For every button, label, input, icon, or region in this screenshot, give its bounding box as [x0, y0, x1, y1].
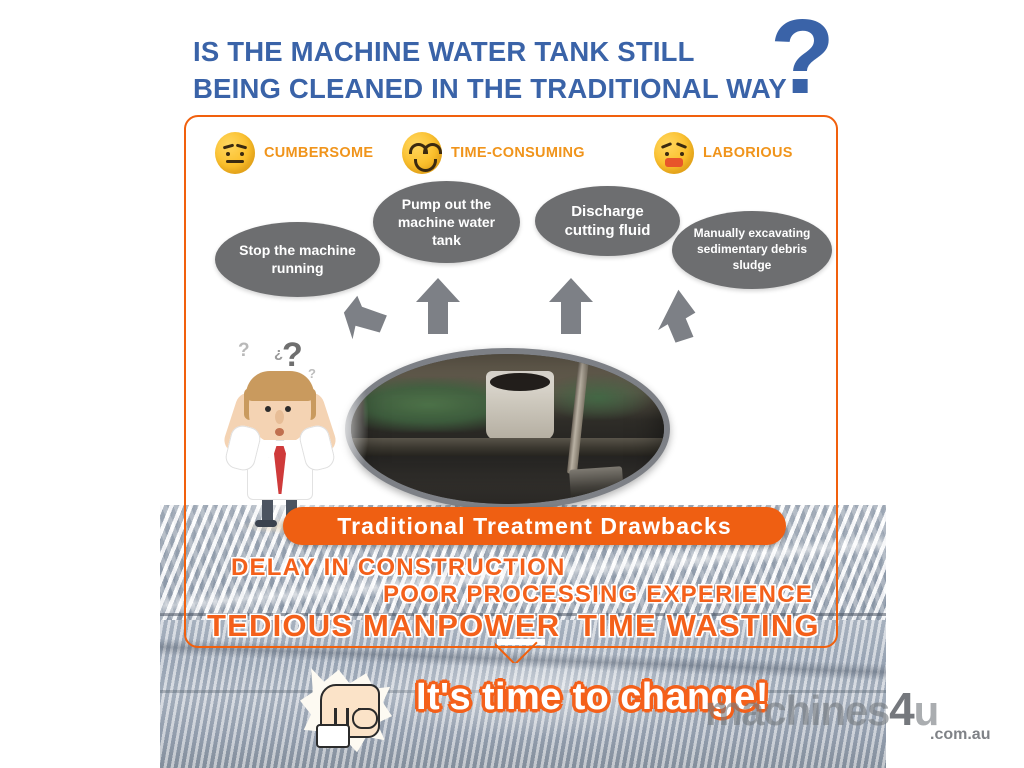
machine-tank-photo — [345, 348, 670, 510]
character-shoe — [255, 520, 277, 527]
headline-line-2: BEING CLEANED IN THE TRADITIONAL WAY — [193, 71, 813, 108]
emoji-item-cumbersome: CUMBERSOME — [215, 132, 373, 174]
character-eye — [285, 406, 291, 412]
watermark-domain: .com.au — [930, 726, 990, 744]
worried-businessman-illustration: ? ? ? ? — [222, 340, 362, 530]
drawback-time-wasting: TIME WASTING — [578, 608, 820, 644]
infographic-canvas: IS THE MACHINE WATER TANK STILL BEING CL… — [0, 0, 1024, 768]
character-mouth — [275, 428, 284, 436]
fist-thumb — [352, 708, 378, 729]
step-bubble-manual-excavation: Manually excavating sedimentary debris s… — [672, 211, 832, 289]
step-bubble-text: Stop the machine running — [215, 242, 380, 277]
step-bubble-pump-out: Pump out the machine water tank — [373, 181, 520, 263]
weary-face-icon — [402, 132, 442, 174]
page-title: IS THE MACHINE WATER TANK STILL BEING CL… — [193, 34, 813, 107]
watermark-name: machines — [705, 687, 889, 734]
drawbacks-banner-title: Traditional Treatment Drawbacks — [337, 513, 732, 540]
emoji-label-laborious: LABORIOUS — [703, 145, 793, 161]
drawback-poor-processing-experience: POOR PROCESSING EXPERIENCE — [383, 581, 813, 609]
photo-vignette — [351, 354, 664, 504]
drawback-tedious-manpower: TEDIOUS MANPOWER — [207, 608, 560, 644]
tank-photo-image — [351, 354, 664, 504]
step-bubble-text: Pump out the machine water tank — [373, 195, 520, 250]
step-bubble-text: Discharge cutting fluid — [535, 202, 680, 240]
thought-question-mark-large: ? — [282, 336, 303, 375]
thought-question-mark-small: ? — [238, 340, 250, 362]
process-arrow-mid-right — [545, 276, 597, 338]
frame-bottom-notch — [495, 641, 547, 663]
pointing-fist-icon — [300, 668, 392, 754]
emoji-label-cumbersome: CUMBERSOME — [264, 145, 373, 161]
complaint-emoji-row: CUMBERSOME TIME-CONSUMING LABORIOUS — [215, 132, 825, 176]
drawback-delay-in-construction: DELAY IN CONSTRUCTION — [231, 554, 566, 582]
angry-face-icon — [654, 132, 694, 174]
thought-question-mark-tiny: ? — [308, 366, 316, 381]
step-bubble-discharge: Discharge cutting fluid — [535, 186, 680, 256]
step-bubble-text: Manually excavating sedimentary debris s… — [672, 226, 832, 273]
drawbacks-banner: Traditional Treatment Drawbacks — [283, 507, 786, 545]
emoji-item-laborious: LABORIOUS — [654, 132, 793, 174]
character-nose — [275, 410, 284, 424]
thought-question-mark-inverted: ? — [274, 346, 283, 363]
emoji-label-time-consuming: TIME-CONSUMING — [451, 145, 585, 161]
character-eye — [265, 406, 271, 412]
headline-line-1: IS THE MACHINE WATER TANK STILL — [193, 34, 813, 71]
question-mark-icon: ? — [770, 4, 835, 110]
watermark-number: 4 — [889, 683, 913, 735]
annoyed-face-icon — [215, 132, 255, 174]
process-arrow-right — [646, 288, 704, 346]
watermark-logo: machines4u — [705, 682, 938, 736]
character-hair — [246, 371, 314, 401]
fist-cuff — [316, 724, 350, 748]
step-bubble-stop-machine: Stop the machine running — [215, 222, 380, 297]
process-arrow-mid-left — [412, 276, 464, 338]
emoji-item-time-consuming: TIME-CONSUMING — [402, 132, 585, 174]
